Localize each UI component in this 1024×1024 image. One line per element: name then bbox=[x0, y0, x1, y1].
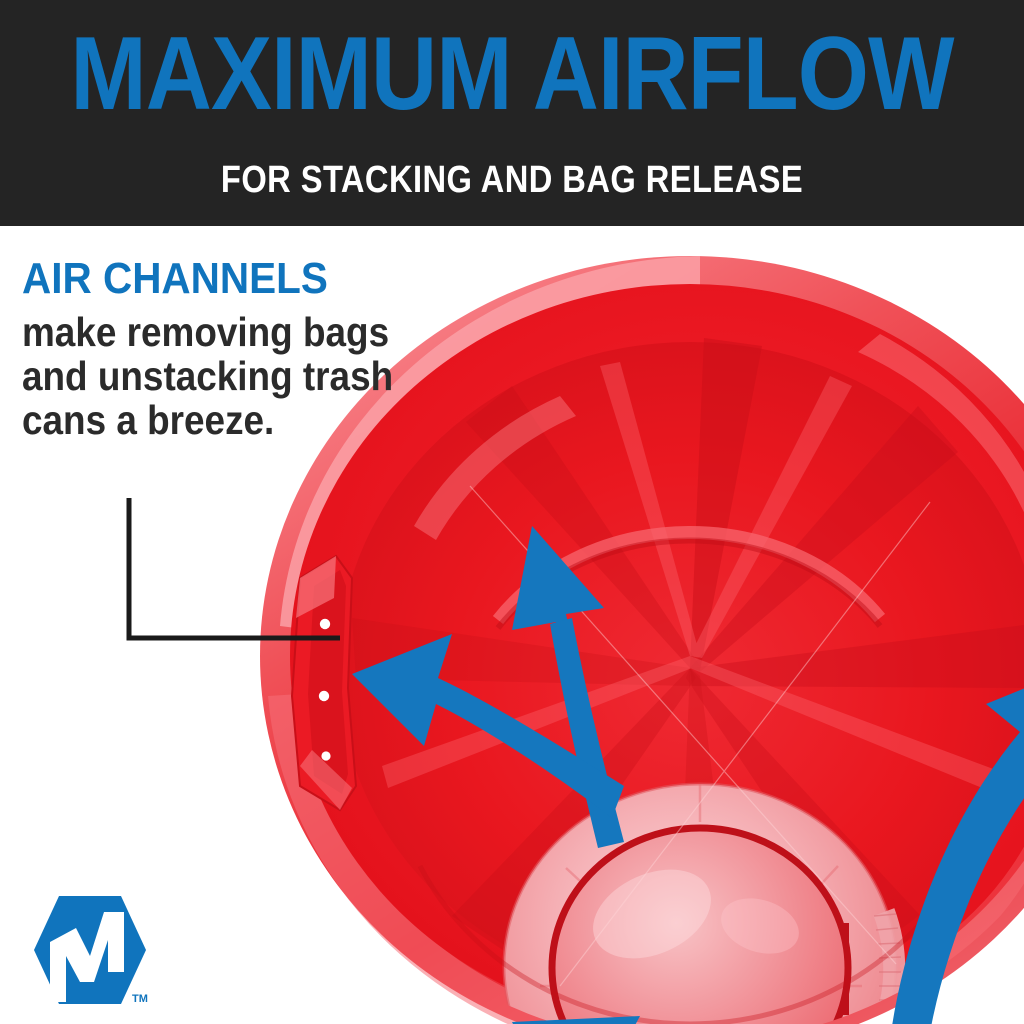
infographic-canvas: MAXIMUM AIRFLOW FOR STACKING AND BAG REL… bbox=[0, 0, 1024, 1024]
trademark-mark: TM bbox=[132, 993, 148, 1005]
callout-title: AIR CHANNELS bbox=[22, 256, 390, 302]
brand-logo: TM bbox=[24, 890, 154, 1010]
callout-body-line: and unstacking trash bbox=[22, 354, 382, 398]
page-title: MAXIMUM AIRFLOW bbox=[61, 22, 962, 126]
handle-vent-hole bbox=[320, 619, 330, 629]
callout-body: make removing bags and unstacking trash … bbox=[22, 310, 382, 442]
callout-text-block: AIR CHANNELS make removing bags and unst… bbox=[22, 256, 422, 442]
callout-body-line: make removing bags bbox=[22, 310, 382, 354]
callout-body-line: cans a breeze. bbox=[22, 398, 382, 442]
page-subtitle: FOR STACKING AND BAG RELEASE bbox=[72, 160, 953, 200]
side-handle-with-air-vents bbox=[292, 556, 356, 810]
header-band: MAXIMUM AIRFLOW FOR STACKING AND BAG REL… bbox=[0, 0, 1024, 226]
handle-vent-hole bbox=[319, 691, 329, 701]
handle-vent-hole bbox=[321, 751, 330, 760]
